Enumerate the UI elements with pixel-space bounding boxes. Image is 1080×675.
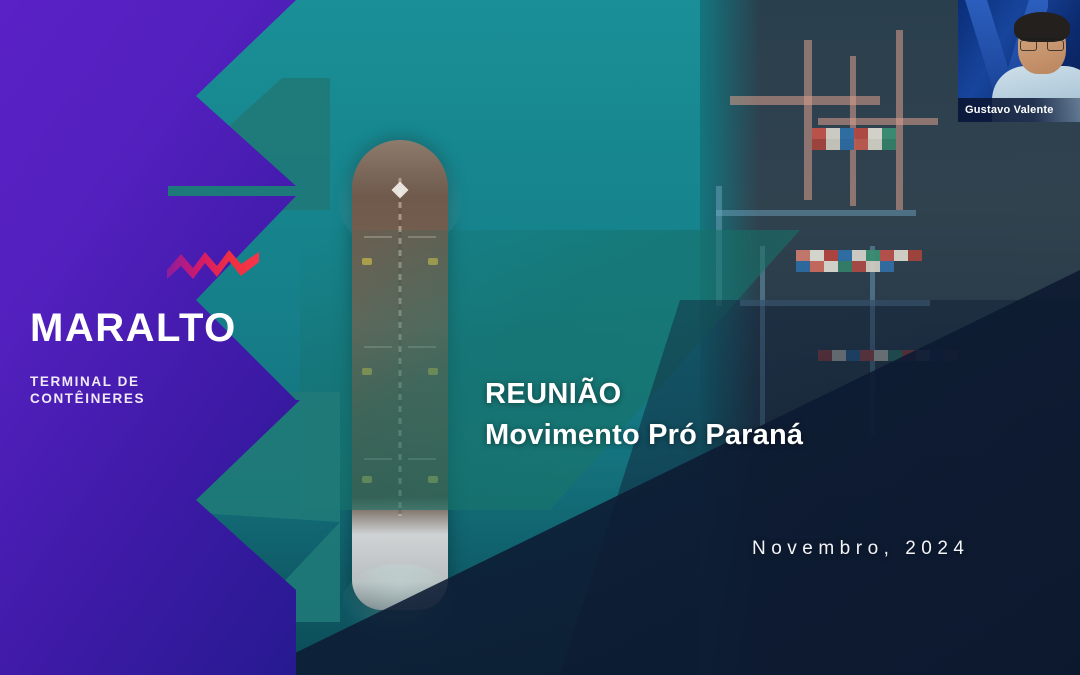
crane-mast-icon	[896, 30, 903, 210]
video-call-screen-share: MARALTO TERMINAL DE CONTÊINERES REUNIÃO …	[0, 0, 1080, 675]
brand-tagline: TERMINAL DE CONTÊINERES	[30, 373, 145, 407]
crane-boom-icon	[716, 210, 916, 216]
bow-marking	[392, 182, 409, 199]
participant-video-tile[interactable]: Gustavo Valente	[958, 0, 1080, 122]
participant-name-bar: Gustavo Valente	[958, 98, 1080, 122]
container-stack	[796, 250, 926, 272]
participant-name: Gustavo Valente	[965, 104, 1054, 116]
tagline-line-2: CONTÊINERES	[30, 390, 145, 407]
maralto-wave-mark-icon	[165, 246, 261, 280]
slide-title-block: REUNIÃO Movimento Pró Paraná	[485, 378, 803, 452]
container-stack	[812, 128, 898, 150]
maralto-wordmark: MARALTO	[30, 306, 237, 351]
slide-title-line-1: REUNIÃO	[485, 378, 803, 411]
glasses-icon	[1020, 38, 1064, 49]
slide-title-line-2: Movimento Pró Paraná	[485, 419, 803, 452]
tagline-line-1: TERMINAL DE	[30, 373, 145, 390]
crane-boom-icon	[818, 118, 938, 125]
crane-mast-icon	[804, 40, 812, 200]
slide-date: Novembro, 2024	[752, 538, 969, 560]
